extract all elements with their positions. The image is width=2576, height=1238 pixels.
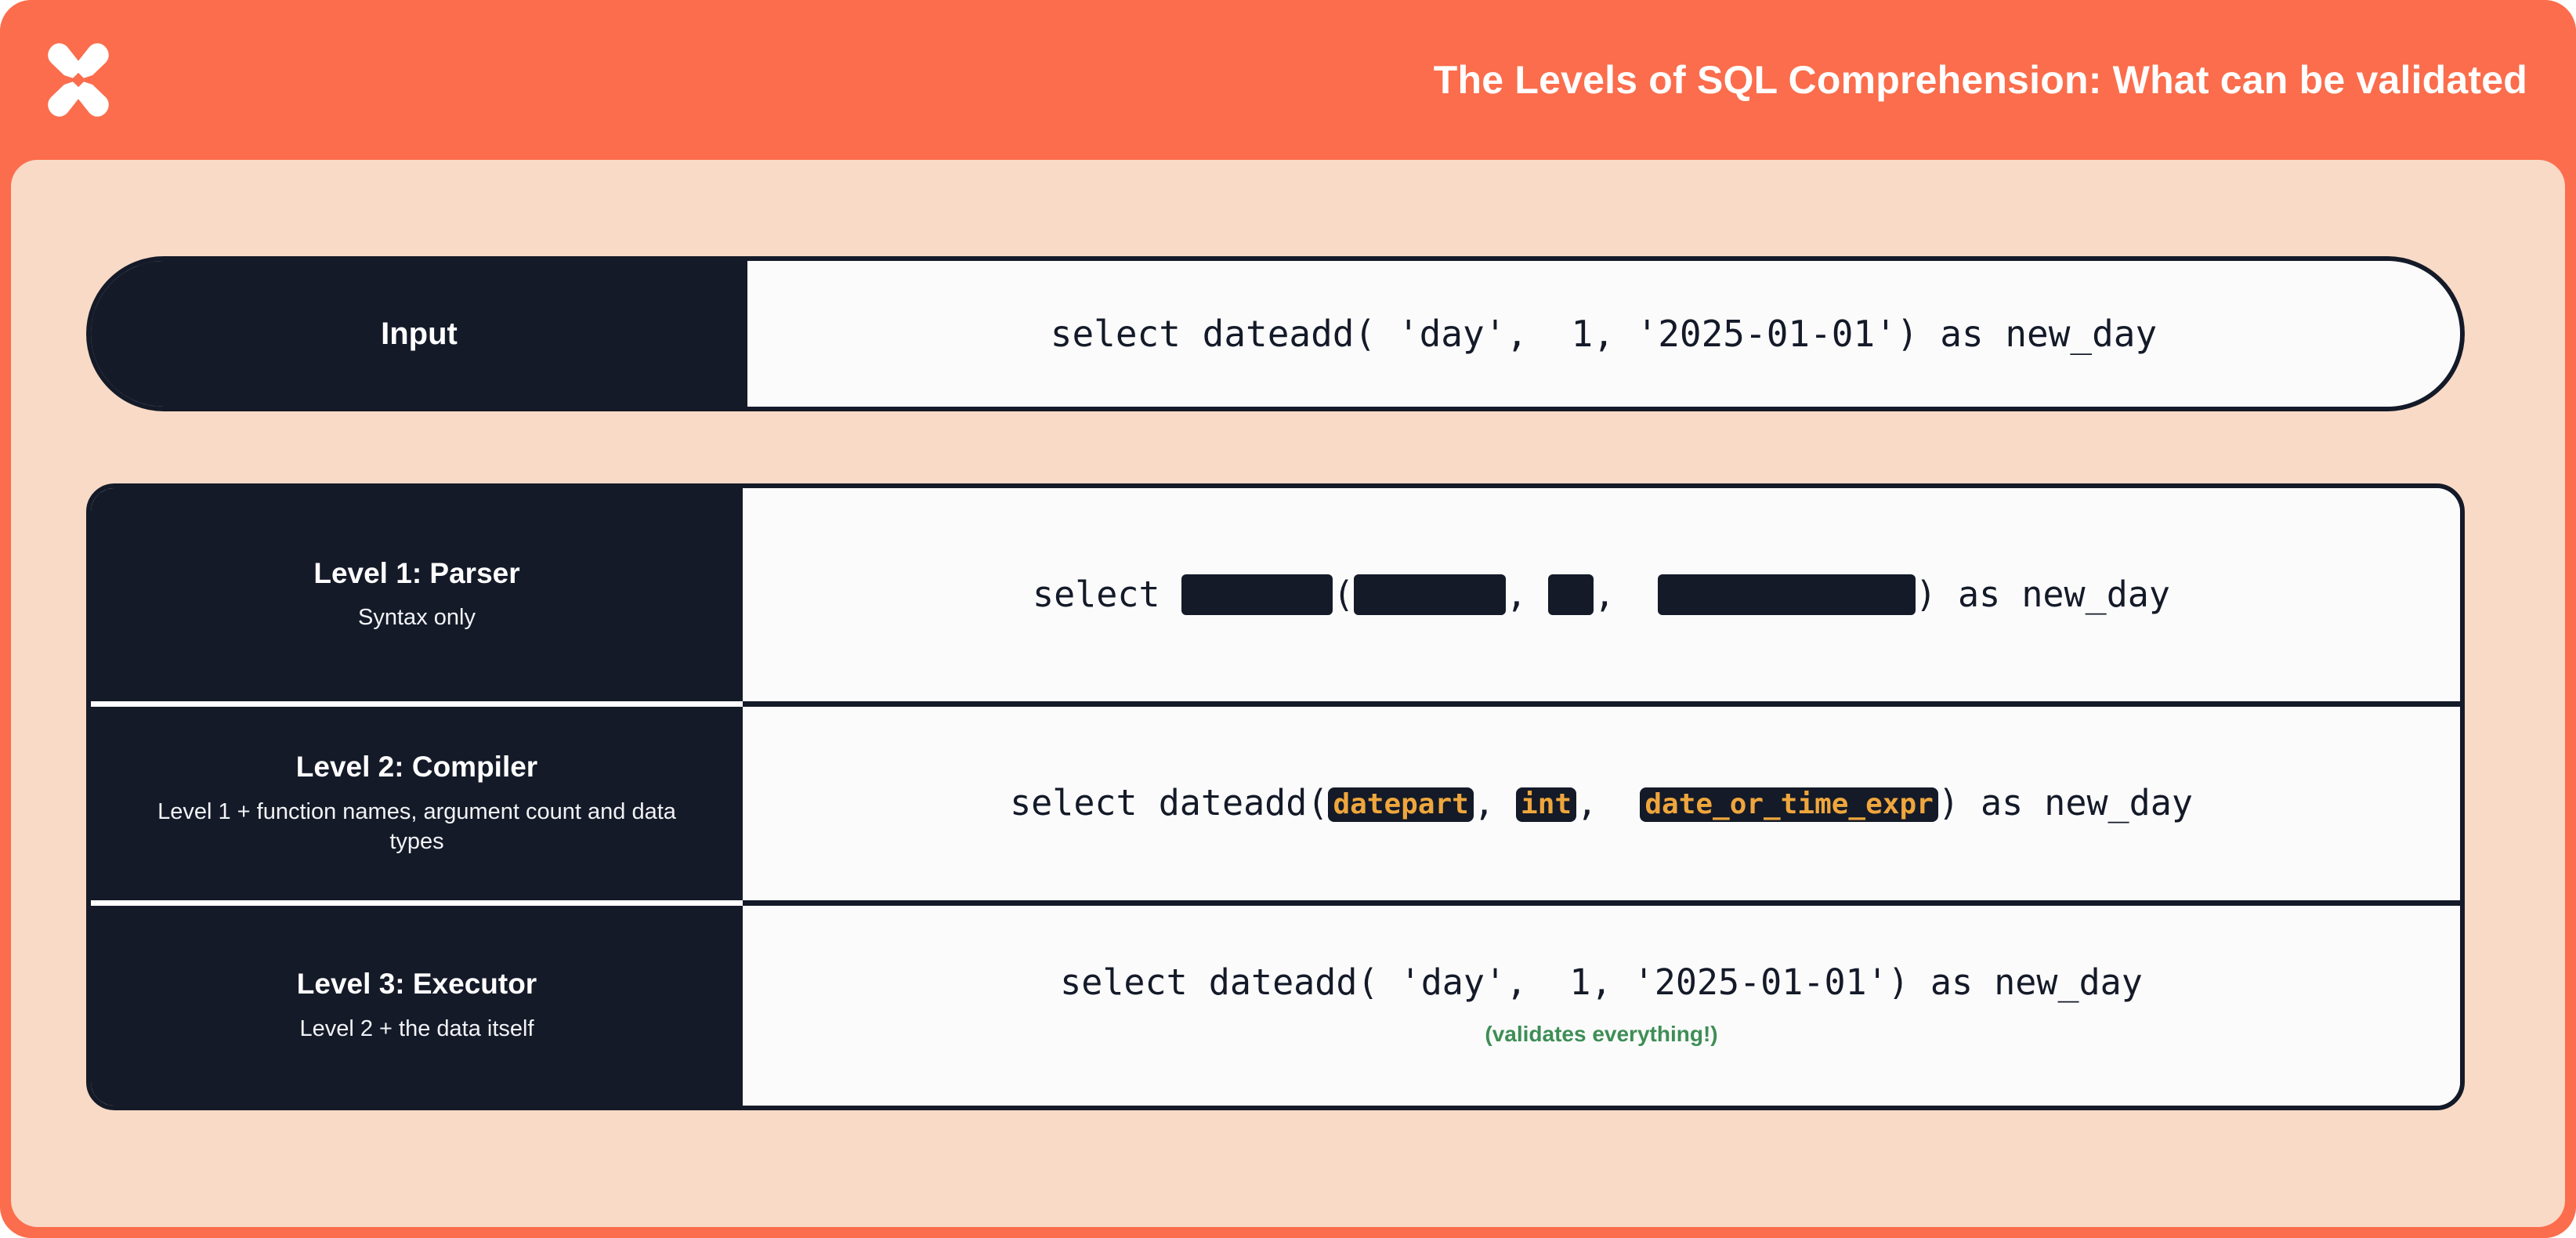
level-sql-code: select dateadd( 'day' , 1, '2025-01-01')…: [1033, 574, 2170, 614]
input-label-cell: Input: [91, 261, 747, 407]
level-title: Level 2: Compiler: [296, 751, 537, 784]
level-subtitle: Syntax only: [358, 603, 476, 632]
x-star-logo-icon: [36, 38, 121, 122]
code-text: select dateadd( 'day', 1, '2025-01-01') …: [1060, 961, 2143, 1003]
infographic-root: The Levels of SQL Comprehension: What ca…: [0, 0, 2576, 1238]
outer-frame: The Levels of SQL Comprehension: What ca…: [0, 0, 2576, 1238]
code-text: ,: [1474, 782, 1516, 824]
code-text: select dateadd(: [1010, 782, 1328, 824]
redacted-token: 1: [1548, 574, 1594, 614]
level-row: Level 1: Parser Syntax only select datea…: [91, 488, 2460, 701]
level-row: Level 2: Compiler Level 1 + function nam…: [91, 701, 2460, 900]
level-sql-code: select dateadd( 'day', 1, '2025-01-01') …: [1060, 965, 2143, 1000]
level-label-cell-1: Level 1: Parser Syntax only: [91, 488, 743, 701]
level-subtitle: Level 2 + the data itself: [299, 1014, 534, 1044]
page-title: The Levels of SQL Comprehension: What ca…: [1434, 57, 2527, 103]
code-text: ,: [1506, 574, 1548, 615]
level-label-cell-2: Level 2: Compiler Level 1 + function nam…: [91, 707, 743, 900]
level-row: Level 3: Executor Level 2 + the data its…: [91, 900, 2460, 1106]
header-bar: The Levels of SQL Comprehension: What ca…: [0, 0, 2576, 160]
level-sql-code: select dateadd(datepart, int, date_or_ti…: [1010, 785, 2193, 822]
code-text: (: [1333, 574, 1354, 615]
code-text: ,: [1576, 782, 1640, 824]
code-text: ) as new_day: [1938, 782, 2193, 824]
code-text: ,: [1594, 574, 1657, 615]
code-text: ) as new_day: [1916, 574, 2170, 615]
input-sql-code: select dateadd( 'day', 1, '2025-01-01') …: [1051, 316, 2157, 352]
type-token: int: [1516, 787, 1576, 822]
level-title: Level 3: Executor: [297, 968, 537, 1001]
levels-card: Level 1: Parser Syntax only select datea…: [86, 483, 2465, 1110]
code-text: select: [1033, 574, 1181, 615]
level-title: Level 1: Parser: [313, 557, 519, 591]
redacted-token: dateadd: [1181, 574, 1333, 614]
redacted-token: '2025-01-01': [1658, 574, 1916, 614]
level-note: (validates everything!): [1485, 1022, 1717, 1047]
input-label: Input: [381, 317, 458, 352]
redacted-token: 'day': [1354, 574, 1506, 614]
input-code-cell: select dateadd( 'day', 1, '2025-01-01') …: [747, 261, 2460, 407]
level-code-cell-2: select dateadd(datepart, int, date_or_ti…: [743, 707, 2460, 900]
level-code-cell-3: select dateadd( 'day', 1, '2025-01-01') …: [743, 906, 2460, 1106]
type-token: date_or_time_expr: [1640, 787, 1937, 822]
input-card: Input select dateadd( 'day', 1, '2025-01…: [86, 256, 2465, 411]
level-subtitle: Level 1 + function names, argument count…: [128, 797, 705, 857]
content-panel: Input select dateadd( 'day', 1, '2025-01…: [11, 160, 2565, 1227]
type-token: datepart: [1328, 787, 1473, 822]
level-code-cell-1: select dateadd( 'day' , 1, '2025-01-01')…: [743, 488, 2460, 701]
level-label-cell-3: Level 3: Executor Level 2 + the data its…: [91, 906, 743, 1106]
